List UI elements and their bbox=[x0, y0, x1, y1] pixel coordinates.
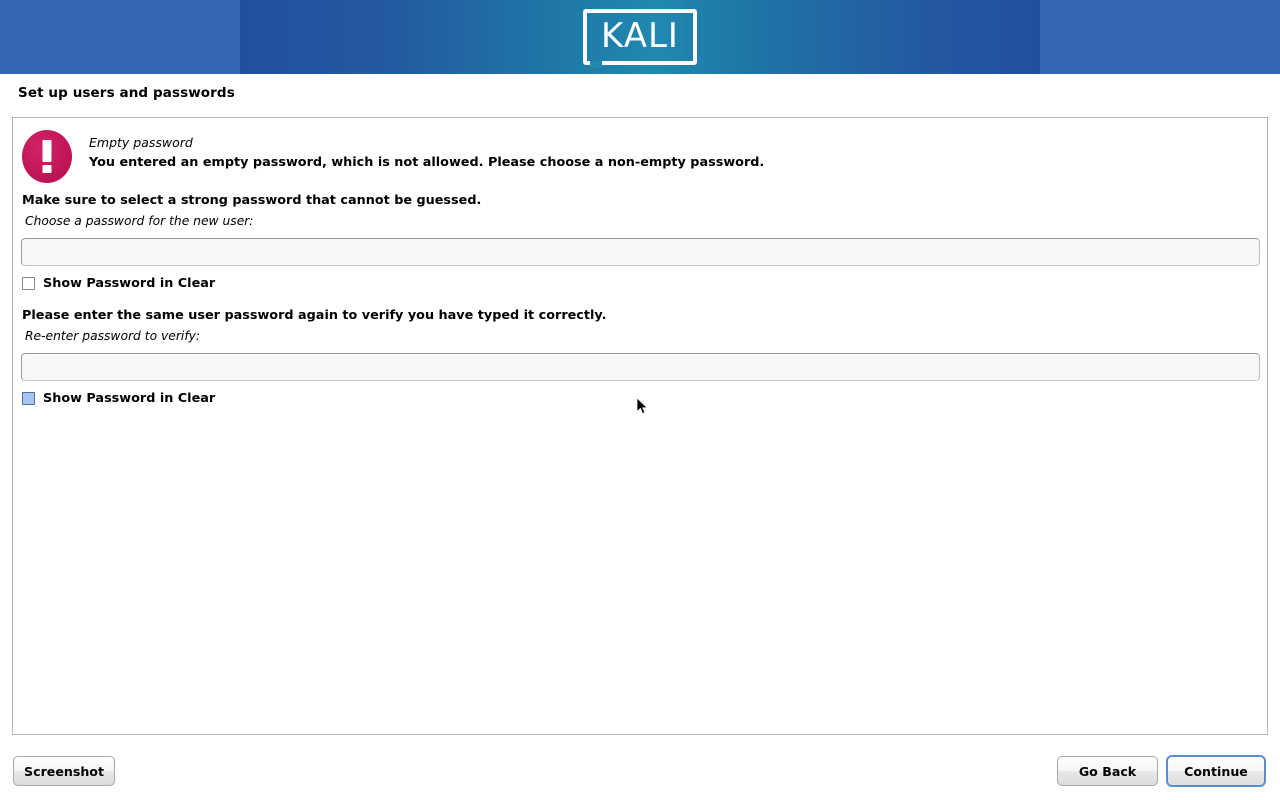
show-password-checkbox-row-1[interactable]: Show Password in Clear bbox=[22, 276, 215, 291]
continue-button[interactable]: Continue bbox=[1166, 755, 1266, 787]
go-back-button[interactable]: Go Back bbox=[1057, 756, 1158, 786]
exclamation-bar bbox=[43, 140, 52, 162]
verify-field-label: Re-enter password to verify: bbox=[25, 329, 200, 343]
installer-content-panel: Empty password You entered an empty pass… bbox=[12, 117, 1268, 735]
show-password-checkbox-2[interactable] bbox=[22, 392, 35, 405]
show-password-checkbox-1[interactable] bbox=[22, 277, 35, 290]
show-password-label-1: Show Password in Clear bbox=[43, 276, 215, 291]
verify-section-heading: Please enter the same user password agai… bbox=[22, 308, 606, 323]
alert-message: You entered an empty password, which is … bbox=[89, 155, 764, 170]
kali-banner: KALI bbox=[0, 0, 1280, 74]
show-password-label-2: Show Password in Clear bbox=[43, 391, 215, 406]
password-section-heading: Make sure to select a strong password th… bbox=[22, 193, 481, 208]
show-password-checkbox-row-2[interactable]: Show Password in Clear bbox=[22, 391, 215, 406]
kali-logo-icon: KALI bbox=[583, 9, 697, 65]
kali-logo-text: KALI bbox=[583, 9, 697, 65]
password-field-label: Choose a password for the new user: bbox=[25, 214, 253, 228]
alert-title: Empty password bbox=[89, 135, 193, 150]
exclamation-dot bbox=[43, 165, 52, 173]
error-exclamation-icon bbox=[22, 130, 72, 183]
password-input[interactable] bbox=[21, 238, 1260, 266]
page-title: Set up users and passwords bbox=[18, 85, 235, 101]
screenshot-button[interactable]: Screenshot bbox=[13, 756, 115, 786]
verify-password-input[interactable] bbox=[21, 353, 1260, 381]
